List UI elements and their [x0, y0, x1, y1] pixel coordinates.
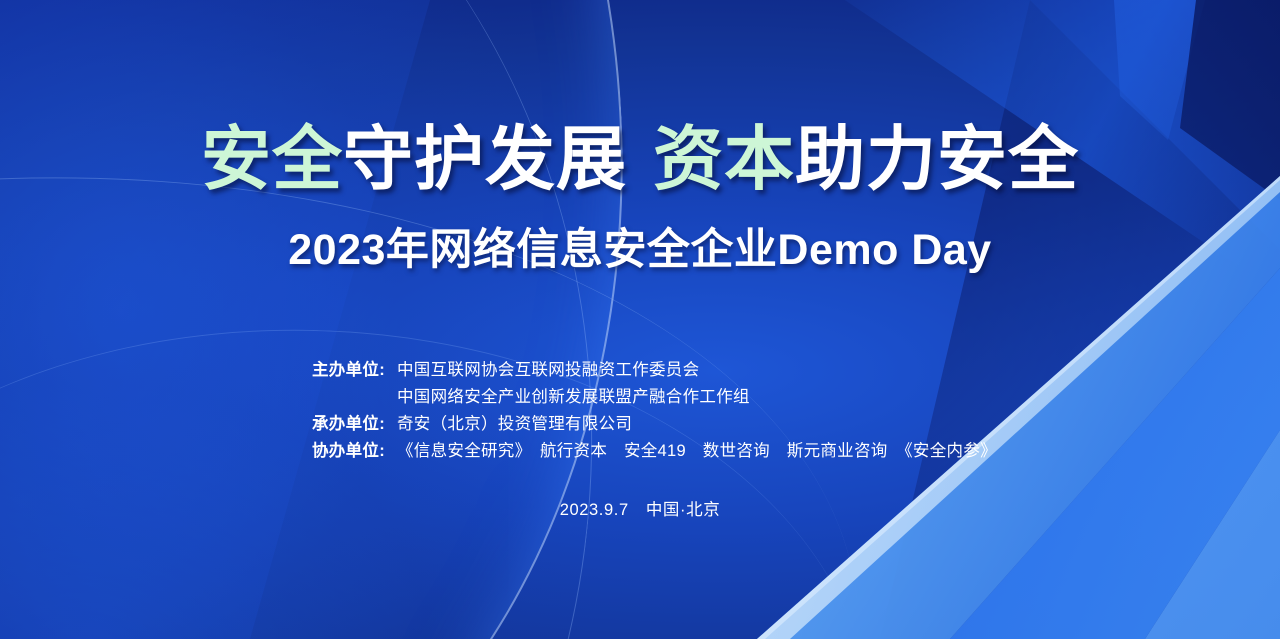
title-segment-4: 助力安全: [795, 120, 1079, 198]
title-segment-1: 安全: [201, 120, 343, 198]
organizer-value-coorganizer: 《信息安全研究》 航行资本 安全419 数世咨询 斯元商业咨询 《安全内参》: [397, 439, 997, 464]
organizer-block: 主办单位: 中国互联网协会互联网投融资工作委员会 主办单位: 中国网络安全产业创…: [312, 358, 1012, 466]
poster-title: 安全守护发展资本助力安全: [0, 124, 1280, 194]
date-location-line: 2023.9.7 中国·北京: [0, 496, 1280, 520]
organizer-label-undertaker: 承办单位:: [312, 412, 397, 437]
organizer-row-coorganizer: 协办单位: 《信息安全研究》 航行资本 安全419 数世咨询 斯元商业咨询 《安…: [312, 439, 1012, 464]
organizer-row-host-1: 主办单位: 中国互联网协会互联网投融资工作委员会: [312, 358, 1012, 383]
organizer-row-undertaker: 承办单位: 奇安（北京）投资管理有限公司: [312, 412, 1012, 437]
organizer-label-host: 主办单位:: [312, 358, 397, 383]
event-poster: 安全守护发展资本助力安全 2023年网络信息安全企业Demo Day 主办单位:…: [0, 0, 1280, 639]
title-segment-2: 守护发展: [343, 120, 627, 198]
organizer-value-host-2: 中国网络安全产业创新发展联盟产融合作工作组: [397, 385, 750, 410]
title-segment-3: 资本: [653, 120, 795, 198]
poster-subtitle: 2023年网络信息安全企业Demo Day: [0, 226, 1280, 275]
organizer-value-undertaker: 奇安（北京）投资管理有限公司: [397, 412, 632, 437]
organizer-label-coorganizer: 协办单位:: [312, 439, 397, 464]
organizer-row-host-2: 主办单位: 中国网络安全产业创新发展联盟产融合作工作组: [312, 385, 1012, 410]
poster-content: 安全守护发展资本助力安全 2023年网络信息安全企业Demo Day 主办单位:…: [0, 0, 1280, 639]
organizer-value-host-1: 中国互联网协会互联网投融资工作委员会: [397, 358, 699, 383]
